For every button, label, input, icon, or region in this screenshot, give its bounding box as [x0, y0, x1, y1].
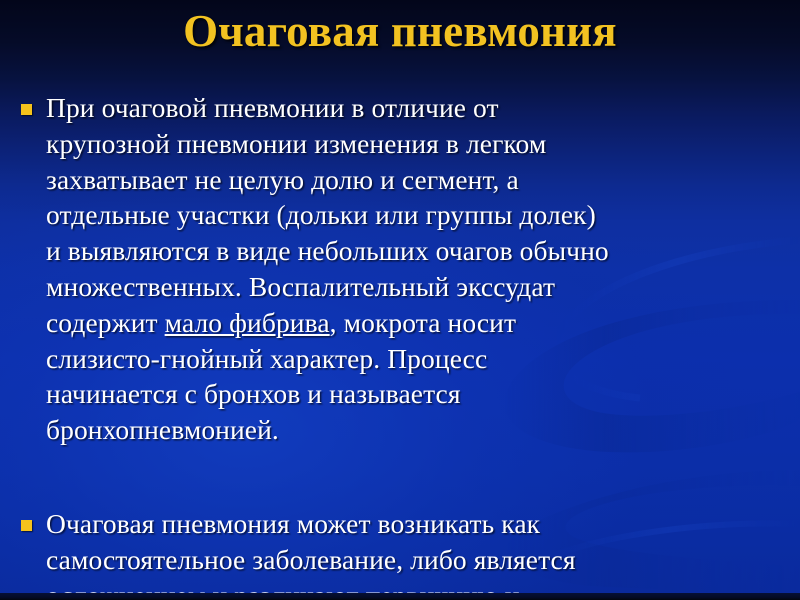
bullet-item-1-text: При очаговой пневмонии в отличие от круп… [46, 90, 792, 448]
bullet-line: Очаговая пневмония может возникать как [46, 506, 792, 542]
bullet-line: крупозной пневмонии изменения в легком [46, 126, 792, 162]
bullet-line: множественных. Воспалительный экссудат [46, 269, 792, 305]
bullet-line: слизисто-гнойный характер. Процесс [46, 341, 792, 377]
slide-body: При очаговой пневмонии в отличие от круп… [8, 90, 792, 600]
text-after-underline: , мокрота носит [330, 307, 516, 338]
bullet-line: бронхопневмонией. [46, 412, 792, 448]
bullet-line: начинается с бронхов и называется [46, 376, 792, 412]
slide-title: Очаговая пневмония [0, 6, 800, 56]
slide-bottom-border [0, 593, 800, 600]
bullet-line: отдельные участки (дольки или группы дол… [46, 197, 792, 233]
bullet-item-1: При очаговой пневмонии в отличие от круп… [8, 90, 792, 448]
bullet-line: и выявляются в виде небольших очагов обы… [46, 233, 792, 269]
bullet-item-2: Очаговая пневмония может возникать как с… [8, 506, 792, 600]
bullet-line: самостоятельное заболевание, либо являет… [46, 542, 792, 578]
square-bullet-icon [21, 520, 32, 531]
underlined-term: мало фибрива [165, 307, 330, 338]
bullet-item-2-text: Очаговая пневмония может возникать как с… [46, 506, 792, 600]
square-bullet-icon [21, 104, 32, 115]
text-before-underline: содержит [46, 307, 165, 338]
bullet-line: При очаговой пневмонии в отличие от [46, 90, 792, 126]
bullet-line-underlined: содержит мало фибрива, мокрота носит [46, 305, 792, 341]
bullet-line: захватывает не целую долю и сегмент, а [46, 162, 792, 198]
presentation-slide: Очаговая пневмония При очаговой пневмони… [0, 0, 800, 600]
